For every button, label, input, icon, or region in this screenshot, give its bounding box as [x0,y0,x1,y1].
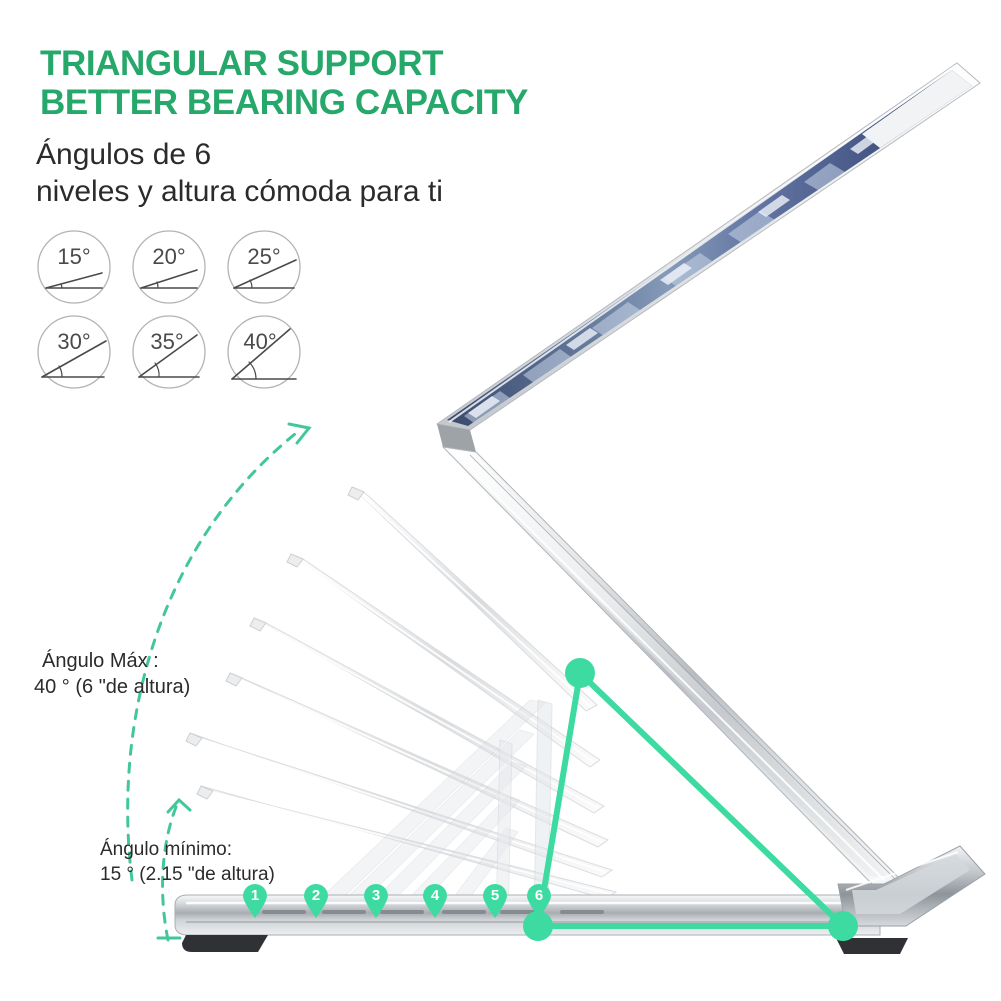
max-angle-callout: Ángulo Máx : 40 ° (6 "de altura) [34,648,190,700]
level-marker-5[interactable]: 5 [482,884,508,918]
headline-line-1: TRIANGULAR SUPPORT [40,44,660,83]
angle-label-25: 25° [247,244,280,269]
angle-badge-15: 15° [30,226,115,311]
min-angle-callout-line-1: Ángulo mínimo: [100,838,275,863]
page-title: TRIANGULAR SUPPORT BETTER BEARING CAPACI… [40,44,660,122]
ghost-arm-6 [348,487,597,711]
level-marker-label-3: 3 [363,886,389,906]
headline-line-2: BETTER BEARING CAPACITY [40,83,660,122]
level-marker-3[interactable]: 3 [363,884,389,918]
angle-badge-20: 20° [125,226,210,311]
angle-badge-35: 35° [125,311,210,396]
level-marker-label-2: 2 [303,886,329,906]
level-marker-label-4: 4 [422,886,448,906]
level-marker-2[interactable]: 2 [303,884,329,918]
level-marker-4[interactable]: 4 [422,884,448,918]
triangle-support-overlay [523,658,858,941]
ghost-arm-5 [287,554,600,767]
laptop-hinge [437,424,476,452]
ghost-arm-4 [250,618,604,813]
angle-label-15: 15° [57,244,90,269]
subtitle-line-1: Ángulos de 6 [36,136,656,173]
angle-label-35: 35° [150,329,183,354]
angle-badge-25: 25° [220,226,305,311]
level-marker-label-1: 1 [242,886,268,906]
max-angle-callout-line-2: 40 ° (6 "de altura) [34,674,190,700]
stand-foot-right [838,846,985,926]
stand-base [175,846,985,954]
subtitle-line-2: niveles y altura cómoda para ti [36,173,656,210]
laptop-keyboard-deck [443,447,905,884]
angle-label-40: 40° [243,329,276,354]
level-marker-label-5: 5 [482,886,508,906]
max-angle-callout-line-1: Ángulo Máx : [34,648,190,674]
angle-label-30: 30° [57,329,90,354]
level-marker-1[interactable]: 1 [242,884,268,918]
level-marker-6[interactable]: 6 [526,884,552,918]
angle-badge-30: 30° [30,311,115,396]
page-subtitle: Ángulos de 6 niveles y altura cómoda par… [36,136,656,210]
infographic-page: TRIANGULAR SUPPORT BETTER BEARING CAPACI… [0,0,1001,1001]
ghost-arm-3 [226,673,608,847]
min-angle-callout: Ángulo mínimo: 15 ° (2.15 "de altura) [100,838,275,887]
level-marker-label-6: 6 [526,886,552,906]
angle-badge-40: 40° [220,311,305,396]
angle-options-grid: 15° 20° 25° [30,226,330,396]
angle-label-20: 20° [152,244,185,269]
